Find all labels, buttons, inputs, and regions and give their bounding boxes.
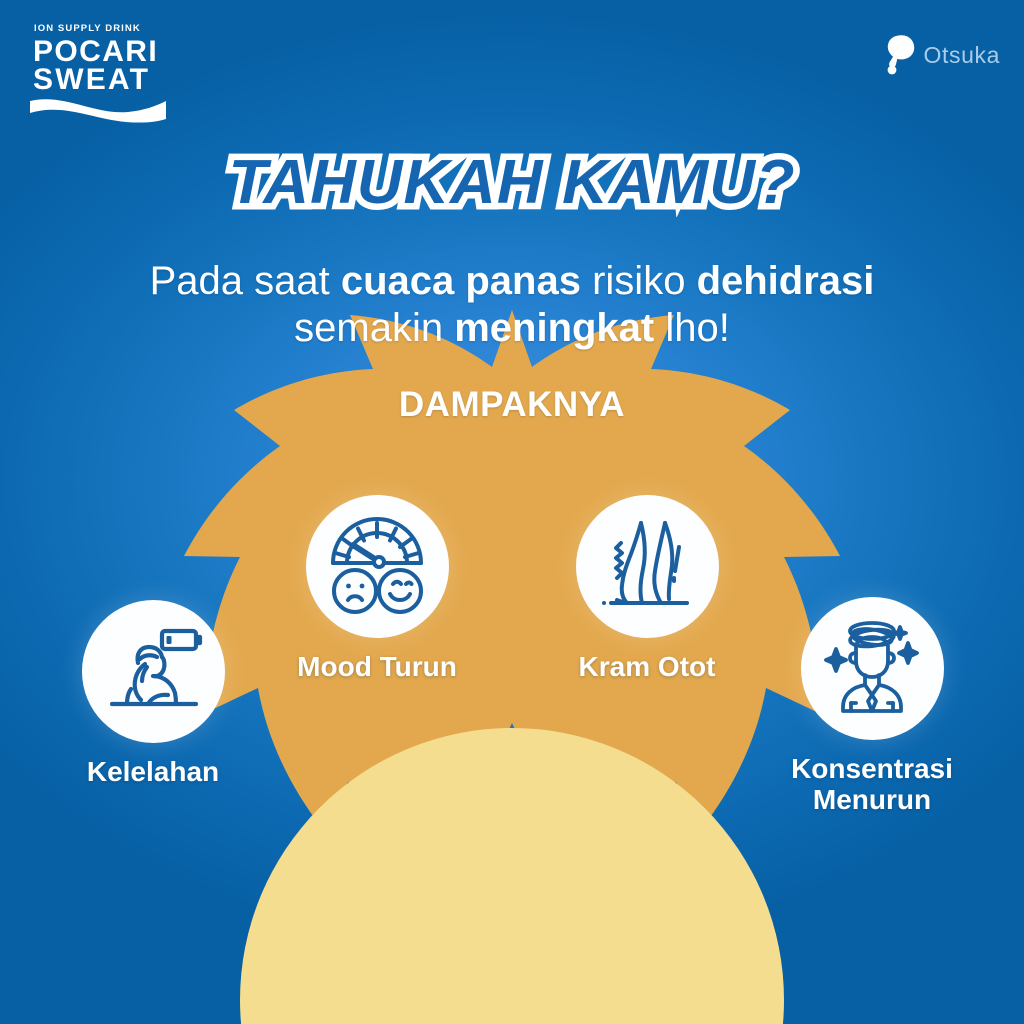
leg-cramp-icon	[595, 515, 699, 619]
mood-gauge-sad-happy-icon	[325, 515, 429, 619]
subhead-text-1: Pada saat	[150, 259, 341, 303]
logo-tagline: ION SUPPLY DRINK	[34, 24, 190, 34]
impact-icon-circle	[82, 600, 225, 743]
impact-icon-circle	[801, 597, 944, 740]
subhead-text-3: semakin	[294, 306, 454, 350]
impact-item-kram-otot: Kram Otot	[547, 495, 747, 682]
impact-label: Kelelahan	[53, 756, 253, 787]
section-title: DAMPAKNYA	[0, 385, 1024, 425]
subhead-bold-1: cuaca panas	[341, 259, 581, 303]
impact-item-kelelahan: Kelelahan	[53, 600, 253, 787]
impact-icon-circle	[306, 495, 449, 638]
impact-label: Konsentrasi Menurun	[772, 753, 972, 816]
subheadline: Pada saat cuaca panas risiko dehidrasi s…	[0, 258, 1024, 352]
otsuka-wordmark: Otsuka	[924, 42, 1000, 69]
impact-item-mood-turun: Mood Turun	[277, 495, 477, 682]
impact-icon-circle	[576, 495, 719, 638]
otsuka-leaf-icon	[881, 34, 915, 76]
page-title: TAHUKAH KAMU?	[0, 150, 1024, 217]
subheadline-line-1: Pada saat cuaca panas risiko dehidrasi	[0, 258, 1024, 305]
subhead-bold-2: dehidrasi	[697, 259, 875, 303]
logo-word-pocari: POCARI	[33, 38, 190, 67]
pocari-sweat-logo: ION SUPPLY DRINK POCARI SWEAT	[30, 24, 190, 128]
subhead-bold-3: meningkat	[454, 306, 654, 350]
dizzy-person-icon	[820, 617, 924, 721]
subhead-text-4: lho!	[654, 306, 730, 350]
subhead-text-2: risiko	[581, 259, 697, 303]
impact-item-konsentrasi-menurun: Konsentrasi Menurun	[772, 597, 972, 816]
otsuka-logo: Otsuka	[881, 34, 1000, 76]
impact-label: Mood Turun	[277, 651, 477, 682]
poster-canvas: ION SUPPLY DRINK POCARI SWEAT Otsuka TAH…	[0, 0, 1024, 1024]
tired-person-low-battery-icon	[100, 619, 206, 725]
wave-swoosh-icon	[30, 97, 166, 123]
subheadline-line-2: semakin meningkat lho!	[0, 305, 1024, 352]
logo-word-sweat: SWEAT	[33, 66, 190, 95]
impact-label: Kram Otot	[547, 651, 747, 682]
